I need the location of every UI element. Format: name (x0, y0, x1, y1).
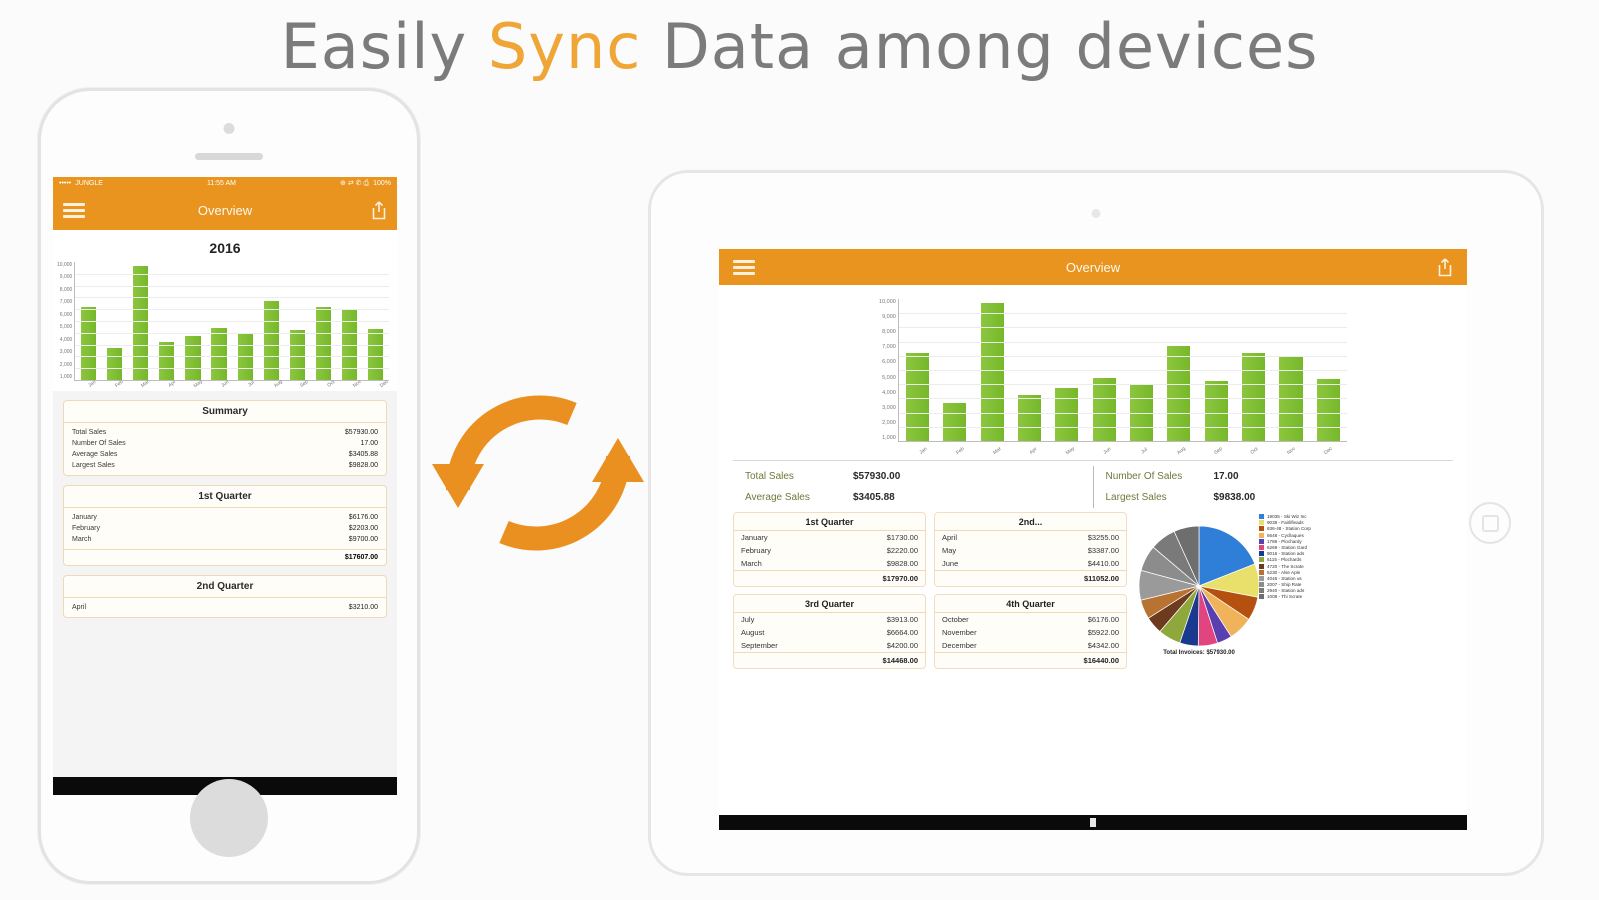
table-row: Number Of Sales17.00 (72, 438, 378, 449)
row-value: $1730.00 (887, 533, 918, 542)
legend-swatch (1259, 539, 1264, 544)
table-row: Total Sales$57930.00 (72, 427, 378, 438)
phone-nav-bar: Overview (53, 190, 397, 230)
y-tick-label: 1,000 (882, 435, 896, 441)
tablet-summary-strip: Total Sales$57930.00Average Sales$3405.8… (733, 460, 1453, 508)
bar (1317, 379, 1340, 441)
y-tick-label: 7,000 (60, 299, 73, 305)
tablet-nav-bar: Overview (719, 249, 1467, 285)
y-tick-label: 5,000 (882, 375, 896, 381)
row-value: $6176.00 (1088, 615, 1119, 624)
y-tick-label: 9,000 (882, 314, 896, 320)
row-value: $3913.00 (887, 615, 918, 624)
headline-after: Data among devices (641, 10, 1318, 83)
tablet-camera-icon (1092, 209, 1101, 218)
summary-column-left: Total Sales$57930.00Average Sales$3405.8… (733, 466, 1093, 508)
chart-plot-area (74, 262, 389, 381)
summary-value: 17.00 (1214, 471, 1239, 482)
bar (1018, 395, 1041, 441)
grid-line (899, 427, 1347, 428)
legend-item: 19035 - Ski Wiz Inc (1259, 514, 1311, 519)
phone-q2-card: 2nd Quarter April$3210.00 (63, 575, 387, 618)
row-label: December (942, 641, 977, 650)
row-label: February (72, 525, 100, 532)
bar (290, 330, 305, 380)
legend-label: 5230 - Alse Aple (1267, 570, 1300, 575)
row-value: $2220.00 (887, 546, 918, 555)
tablet-home-button[interactable] (1469, 502, 1511, 544)
table-row: February$2220.00 (734, 544, 925, 557)
row-label: March (741, 559, 762, 568)
bar (1205, 381, 1228, 441)
row-label: May (942, 546, 956, 555)
bar (943, 403, 966, 441)
row-label: June (942, 559, 958, 568)
grid-line (899, 342, 1347, 343)
quarter-total: $14468.00 (734, 652, 925, 668)
table-row: October$6176.00 (935, 613, 1126, 626)
legend-item: 6115 - Plochards (1259, 557, 1311, 562)
phone-bar-chart: 2016 10,0009,0008,0007,0006,0005,0004,00… (53, 230, 397, 391)
y-tick-label: 3,000 (60, 349, 73, 355)
table-row: March$9700.00 (72, 534, 378, 545)
sync-icon (422, 372, 654, 572)
chart-y-axis: 10,0009,0008,0007,0006,0005,0004,0003,00… (57, 262, 74, 380)
legend-item: 1008 - Thi Scrate (1259, 594, 1311, 599)
legend-swatch (1259, 545, 1264, 550)
status-carrier-name: JUNGLE (75, 180, 103, 187)
row-label: Largest Sales (72, 462, 115, 469)
legend-swatch (1259, 520, 1264, 525)
pie-legend: 19035 - Ski Wiz Inc9038 - Fairlifleads63… (1259, 512, 1311, 669)
status-battery: 100% (373, 180, 391, 187)
table-row: February$2203.00 (72, 523, 378, 534)
share-icon[interactable] (371, 201, 387, 220)
legend-swatch (1259, 533, 1264, 538)
y-tick-label: 2,000 (60, 362, 73, 368)
grid-line (75, 297, 389, 298)
row-label: October (942, 615, 969, 624)
row-label: March (72, 536, 91, 543)
sync-arrows-icon (422, 372, 654, 572)
legend-swatch (1259, 594, 1264, 599)
quarter-title: 3rd Quarter (734, 595, 925, 613)
grid-line (899, 313, 1347, 314)
headline-before: Easily (281, 10, 488, 83)
y-tick-label: 5,000 (60, 324, 73, 330)
legend-swatch (1259, 588, 1264, 593)
quarter-title: 2nd... (935, 513, 1126, 531)
legend-item: 1786 - Plochardy (1259, 539, 1311, 544)
pie-total-label: Total Invoices: (1163, 650, 1205, 656)
row-value: $9828.00 (349, 462, 378, 469)
grid-line (899, 413, 1347, 414)
legend-label: 1008 - Thi Scrate (1267, 594, 1302, 599)
chart-y-axis: 10,0009,0008,0007,0006,0005,0004,0003,00… (879, 299, 898, 441)
bar (107, 348, 122, 380)
row-value: $57930.00 (345, 429, 378, 436)
table-row: September$4200.00 (734, 639, 925, 652)
phone-q1-card: 1st Quarter January$6176.00February$2203… (63, 485, 387, 566)
row-value: $9700.00 (349, 536, 378, 543)
hamburger-icon[interactable] (63, 203, 85, 218)
bar (185, 336, 200, 380)
legend-label: 2007 - Ship Rate (1267, 582, 1301, 587)
legend-item: 4720 - The Scrate (1259, 564, 1311, 569)
row-value: $6176.00 (349, 514, 378, 521)
quarter-total: $16440.00 (935, 652, 1126, 668)
tablet-bar-chart: 10,0009,0008,0007,0006,0005,0004,0003,00… (719, 285, 1467, 454)
quarter-column-b: 2nd...April$3255.00May$3387.00June$4410.… (934, 512, 1127, 669)
legend-item: 9038 - Fairlifleads (1259, 520, 1311, 525)
chart-x-axis: JanFebMarAprMayJunJulAugSepOctNovDec (719, 442, 1467, 454)
row-value: $9828.00 (887, 559, 918, 568)
row-value: $4410.00 (1088, 559, 1119, 568)
row-label: January (741, 533, 768, 542)
legend-item: 6648 - Cycllaques (1259, 533, 1311, 538)
tablet-nav-title: Overview (719, 260, 1467, 275)
table-row: November$5922.00 (935, 626, 1126, 639)
chart-x-axis: JanFebMarAprMayJunJulAugSepOctNovDec (53, 381, 397, 387)
row-value: $3210.00 (349, 604, 378, 611)
grid-line (75, 333, 389, 334)
table-row: July$3913.00 (734, 613, 925, 626)
grid-line (75, 274, 389, 275)
quarter-column-a: 1st QuarterJanuary$1730.00February$2220.… (733, 512, 926, 669)
legend-label: 19035 - Ski Wiz Inc (1267, 514, 1307, 519)
y-tick-label: 4,000 (60, 337, 73, 343)
quarter-card: 3rd QuarterJuly$3913.00August$6664.00Sep… (733, 594, 926, 669)
row-value: $4342.00 (1088, 641, 1119, 650)
y-tick-label: 10,000 (879, 299, 896, 305)
table-row: April$3210.00 (72, 602, 378, 613)
grid-line (899, 356, 1347, 357)
y-tick-label: 6,000 (60, 312, 73, 318)
hamburger-icon[interactable] (733, 260, 755, 275)
legend-item: 5230 - Alse Aple (1259, 570, 1311, 575)
legend-label: 6269 - Station Gard (1267, 545, 1307, 550)
summary-label: Number Of Sales (1106, 471, 1214, 482)
pie-chart (1139, 526, 1259, 646)
y-tick-label: 7,000 (882, 344, 896, 350)
tablet-screen: Overview 10,0009,0008,0007,0006,0005,000… (719, 249, 1467, 815)
grid-line (899, 384, 1347, 385)
legend-swatch (1259, 564, 1264, 569)
bar (159, 342, 174, 380)
phone-camera-icon (224, 123, 235, 134)
bar (1242, 353, 1265, 441)
legend-swatch (1259, 557, 1264, 562)
row-label: April (72, 604, 86, 611)
row-label: Average Sales (72, 451, 117, 458)
summary-label: Largest Sales (1106, 492, 1214, 503)
legend-label: 6648 - Cycllaques (1267, 533, 1304, 538)
legend-item: 2007 - Ship Rate (1259, 582, 1311, 587)
row-value: 17.00 (360, 440, 378, 447)
y-tick-label: 10,000 (57, 262, 72, 268)
phone-nav-title: Overview (53, 203, 397, 218)
grid-line (75, 286, 389, 287)
summary-label: Average Sales (745, 492, 853, 503)
grid-line (75, 356, 389, 357)
row-label: February (741, 546, 771, 555)
summary-value: $57930.00 (853, 471, 900, 482)
grid-line (75, 345, 389, 346)
pie-total: Total Invoices: $57930.00 (1139, 650, 1259, 656)
status-icons: ⊕ ⇄ ✆ ⎙ (340, 179, 369, 188)
quarter-total: $17970.00 (734, 570, 925, 586)
legend-item: 9016 - Station ads (1259, 551, 1311, 556)
legend-label: 2940 - Station ads (1267, 588, 1304, 593)
y-tick-label: 2,000 (882, 420, 896, 426)
y-tick-label: 6,000 (882, 359, 896, 365)
tablet-bottom-toolbar[interactable] (719, 815, 1467, 830)
row-label: August (741, 628, 764, 637)
legend-swatch (1259, 576, 1264, 581)
legend-item: 2940 - Station ads (1259, 588, 1311, 593)
q1-title: 1st Quarter (64, 486, 386, 508)
summary-row: Total Sales$57930.00 (745, 466, 1081, 487)
y-tick-label: 1,000 (60, 374, 73, 380)
tablet-quarter-grid: 1st QuarterJanuary$1730.00February$2220.… (719, 508, 1467, 669)
quarter-title: 1st Quarter (734, 513, 925, 531)
bar (1093, 378, 1116, 441)
phone-app-body: 2016 10,0009,0008,0007,0006,0005,0004,00… (53, 230, 397, 618)
page-title: Easily Sync Data among devices (0, 10, 1599, 83)
legend-label: 4046 - Station us (1267, 576, 1302, 581)
legend-swatch (1259, 570, 1264, 575)
legend-label: 1786 - Plochardy (1267, 539, 1302, 544)
quarter-card: 2nd...April$3255.00May$3387.00June$4410.… (934, 512, 1127, 587)
headline-accent: Sync (488, 10, 641, 83)
status-time: 11:55 AM (207, 180, 236, 187)
legend-label: 4720 - The Scrate (1267, 564, 1304, 569)
row-value: $3387.00 (1088, 546, 1119, 555)
legend-swatch (1259, 526, 1264, 531)
row-value: $5922.00 (1088, 628, 1119, 637)
legend-item: 4046 - Station us (1259, 576, 1311, 581)
bar (1055, 388, 1078, 441)
table-row: December$4342.00 (935, 639, 1126, 652)
summary-row: Average Sales$3405.88 (745, 487, 1081, 508)
y-tick-label: 4,000 (882, 390, 896, 396)
quarter-title: 4th Quarter (935, 595, 1126, 613)
legend-item: 6269 - Station Gard (1259, 545, 1311, 550)
legend-item: 636-48 - Station Corp (1259, 526, 1311, 531)
phone-speaker (195, 153, 263, 160)
legend-label: 9038 - Fairlifleads (1267, 520, 1304, 525)
quarter-card: 1st QuarterJanuary$1730.00February$2220.… (733, 512, 926, 587)
row-label: January (72, 514, 97, 521)
chart-plot-area (898, 299, 1347, 442)
table-row: January$6176.00 (72, 512, 378, 523)
pie-total-value: $57930.00 (1206, 650, 1234, 656)
bar (906, 353, 929, 441)
grid-line (75, 309, 389, 310)
legend-label: 9016 - Station ads (1267, 551, 1304, 556)
grid-line (899, 370, 1347, 371)
bar (981, 303, 1004, 441)
table-row: March$9828.00 (734, 557, 925, 570)
phone-home-button[interactable] (190, 779, 268, 857)
summary-value: $3405.88 (853, 492, 895, 503)
row-value: $2203.00 (349, 525, 378, 532)
summary-label: Total Sales (745, 471, 853, 482)
y-tick-label: 8,000 (882, 329, 896, 335)
q1-total: $17607.00 (345, 554, 378, 561)
bar (368, 329, 383, 380)
table-row: June$4410.00 (935, 557, 1126, 570)
summary-column-right: Number Of Sales17.00Largest Sales$9838.0… (1093, 466, 1454, 508)
scrubber-thumb[interactable] (1090, 818, 1096, 827)
row-value: $3255.00 (1088, 533, 1119, 542)
grid-line (899, 398, 1347, 399)
chart-title: 2016 (53, 240, 397, 256)
grid-line (899, 327, 1347, 328)
row-label: April (942, 533, 957, 542)
table-row: May$3387.00 (935, 544, 1126, 557)
row-label: Total Sales (72, 429, 106, 436)
row-value: $6664.00 (887, 628, 918, 637)
row-label: Number Of Sales (72, 440, 126, 447)
tablet-device: Overview 10,0009,0008,0007,0006,0005,000… (648, 170, 1544, 876)
summary-row: Largest Sales$9838.00 (1106, 487, 1442, 508)
share-icon[interactable] (1437, 258, 1453, 277)
phone-status-bar: ••••• JUNGLE 11:55 AM ⊕ ⇄ ✆ ⎙ 100% (53, 177, 397, 190)
legend-swatch (1259, 582, 1264, 587)
row-value: $4200.00 (887, 641, 918, 650)
y-tick-label: 8,000 (60, 287, 73, 293)
row-label: November (942, 628, 977, 637)
phone-device: ••••• JUNGLE 11:55 AM ⊕ ⇄ ✆ ⎙ 100% Overv… (38, 88, 420, 884)
table-row: Largest Sales$9828.00 (72, 460, 378, 471)
legend-label: 6115 - Plochards (1267, 557, 1301, 562)
status-carrier-dots: ••••• (59, 180, 71, 187)
legend-label: 636-48 - Station Corp (1267, 526, 1311, 531)
row-label: September (741, 641, 778, 650)
summary-row: Number Of Sales17.00 (1106, 466, 1442, 487)
legend-swatch (1259, 514, 1264, 519)
table-row: Average Sales$3405.88 (72, 449, 378, 460)
y-tick-label: 9,000 (60, 274, 73, 280)
legend-swatch (1259, 551, 1264, 556)
table-row: August$6664.00 (734, 626, 925, 639)
phone-screen: ••••• JUNGLE 11:55 AM ⊕ ⇄ ✆ ⎙ 100% Overv… (53, 177, 397, 777)
y-tick-label: 3,000 (882, 405, 896, 411)
summary-title: Summary (64, 401, 386, 423)
tablet-pie-area: Total Invoices: $57930.00 19035 - Ski Wi… (1135, 512, 1453, 669)
row-value: $3405.88 (349, 451, 378, 458)
table-row: January$1730.00 (734, 531, 925, 544)
grid-line (75, 321, 389, 322)
bar (133, 266, 148, 380)
row-label: July (741, 615, 754, 624)
bar (211, 328, 226, 380)
table-row: April$3255.00 (935, 531, 1126, 544)
quarter-card: 4th QuarterOctober$6176.00November$5922.… (934, 594, 1127, 669)
grid-line (75, 368, 389, 369)
phone-summary-card: Summary Total Sales$57930.00Number Of Sa… (63, 400, 387, 476)
summary-value: $9838.00 (1214, 492, 1256, 503)
quarter-total: $11052.00 (935, 570, 1126, 586)
q2-title: 2nd Quarter (64, 576, 386, 598)
